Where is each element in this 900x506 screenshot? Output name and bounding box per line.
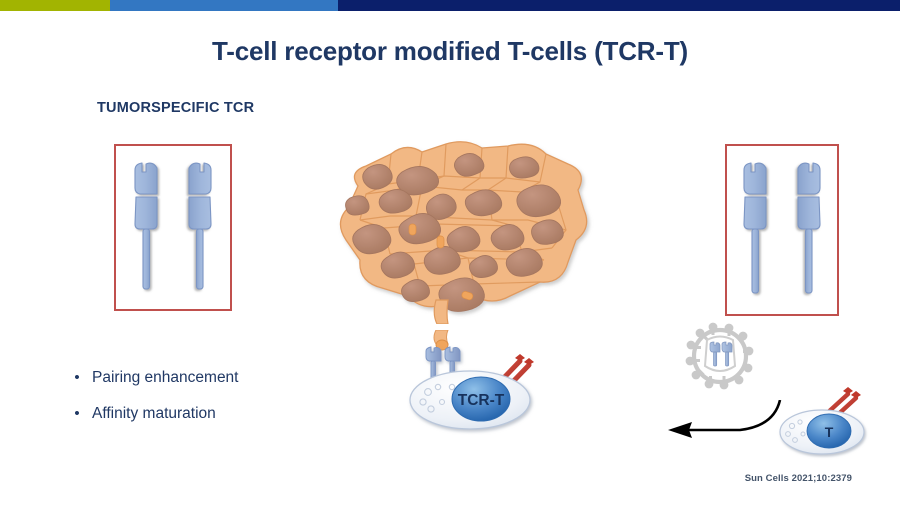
tumorspecific-tcr-box-right	[725, 144, 839, 316]
citation-reference: Sun Cells 2021;10:2379	[745, 473, 852, 484]
blue-segment	[110, 0, 338, 11]
t-cell-label: T	[825, 424, 834, 440]
arrow-head	[668, 422, 692, 438]
tcr-receptor-pair-left	[116, 146, 230, 309]
bullet-text: Affinity maturation	[92, 404, 216, 424]
tcr-t-cell-svg: TCR-T	[398, 330, 583, 435]
top-accent-bar	[0, 0, 900, 11]
bullet-text: Pairing enhancement	[92, 368, 239, 388]
tcr-chain-beta	[798, 163, 820, 293]
tumor-mass-svg	[296, 124, 606, 324]
tumor-pedicle	[434, 300, 448, 324]
peptide-mhc-complex	[434, 330, 448, 350]
page-title: T-cell receptor modified T-cells (TCR-T)	[0, 36, 900, 67]
slide-canvas: T-cell receptor modified T-cells (TCR-T)…	[0, 0, 900, 506]
tumor-mass	[296, 124, 606, 324]
section-heading: TUMORSPECIFIC TCR	[97, 100, 254, 116]
tumorspecific-tcr-box-left	[114, 144, 232, 311]
navy-segment	[338, 0, 900, 11]
untransduced-t-cell-svg: T	[772, 382, 887, 462]
bullet-list: • Pairing enhancement • Affinity maturat…	[62, 368, 342, 440]
olive-segment	[0, 0, 110, 11]
bullet-marker-icon: •	[62, 368, 92, 388]
untransduced-t-cell: T	[772, 382, 887, 462]
list-item: • Pairing enhancement	[62, 368, 342, 388]
tcr-t-cell: TCR-T	[398, 330, 583, 435]
transduction-arrow	[662, 400, 787, 455]
tcr-chain-alpha	[135, 163, 157, 289]
tcr-receptor-pair-right	[727, 146, 837, 314]
list-item: • Affinity maturation	[62, 404, 342, 424]
tcr-chain-beta	[189, 163, 211, 289]
bullet-marker-icon: •	[62, 404, 92, 424]
vector-capsid	[705, 337, 735, 372]
transduction-arrow-svg	[662, 400, 787, 455]
tcr-chain-alpha	[744, 163, 766, 293]
tcr-t-label: TCR-T	[458, 392, 505, 409]
